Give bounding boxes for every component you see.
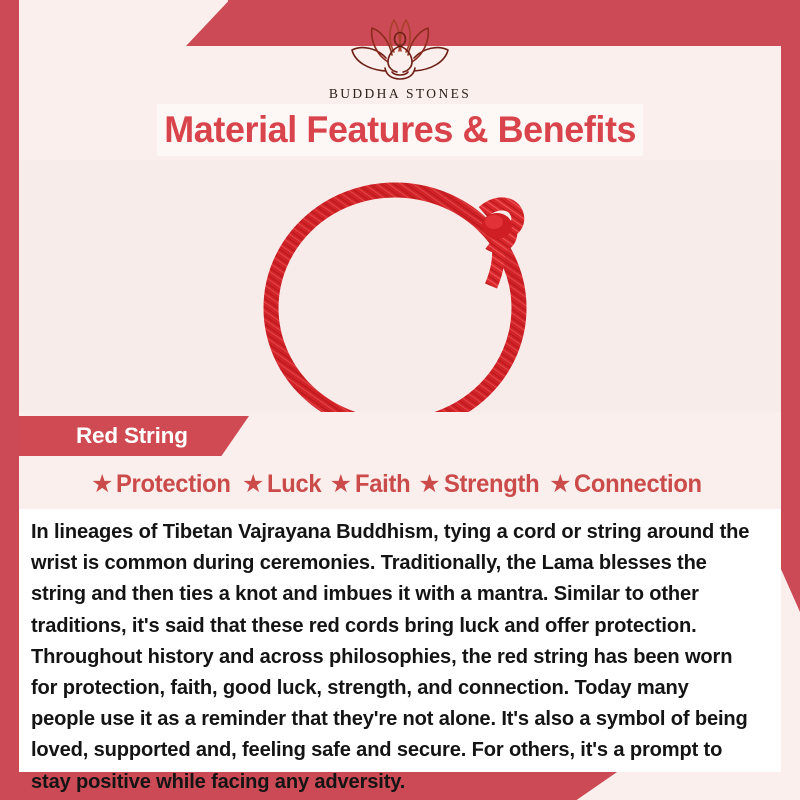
red-string-bracelet-image — [245, 160, 555, 412]
benefit-label: Connection — [574, 470, 702, 499]
star-icon: ★ — [91, 472, 113, 497]
product-image-area — [19, 160, 781, 412]
benefit-item: ★ Strength — [418, 470, 544, 499]
left-red-strip — [0, 0, 19, 800]
benefit-item: ★ Connection — [549, 470, 709, 499]
infographic-page: BUDDHA STONES Material Features & Benefi… — [0, 0, 800, 800]
benefits-row: ★ Protection ★ Luck ★ Faith ★ Strength ★… — [19, 464, 781, 504]
title-band: Material Features & Benefits — [157, 104, 643, 156]
star-icon: ★ — [242, 472, 264, 497]
right-red-strip — [781, 0, 800, 612]
star-icon: ★ — [549, 472, 571, 497]
benefit-item: ★ Protection — [91, 470, 237, 499]
brand-name: BUDDHA STONES — [329, 86, 471, 102]
benefit-label: Strength — [444, 470, 539, 499]
benefit-item: ★ Luck — [242, 470, 325, 499]
description-panel: In lineages of Tibetan Vajrayana Buddhis… — [19, 509, 781, 772]
benefit-label: Protection — [116, 470, 231, 499]
star-icon: ★ — [418, 472, 440, 497]
page-title: Material Features & Benefits — [164, 109, 636, 151]
header: BUDDHA STONES Material Features & Benefi… — [19, 0, 781, 160]
description-text: In lineages of Tibetan Vajrayana Buddhis… — [31, 517, 756, 798]
benefit-label: Luck — [267, 470, 321, 499]
brand-logo: BUDDHA STONES — [329, 12, 471, 102]
product-label-text: Red String — [76, 423, 188, 449]
benefit-label: Faith — [355, 470, 410, 499]
star-icon: ★ — [330, 472, 352, 497]
lotus-meditation-icon — [340, 12, 460, 84]
product-label-banner: Red String — [19, 416, 249, 456]
benefit-item: ★ Faith — [330, 470, 414, 499]
